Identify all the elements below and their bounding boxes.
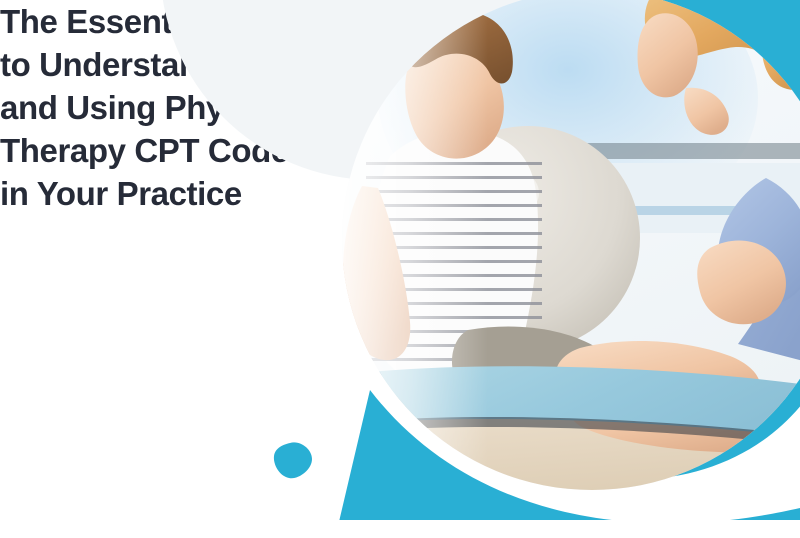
photo-svg [318, 0, 800, 508]
accent-blob-icon [272, 440, 314, 482]
hair-tie [754, 0, 782, 18]
photo-left-fade [318, 0, 488, 508]
hero-banner: The Essential Guide to Understanding and… [0, 0, 800, 538]
blob-svg [272, 440, 314, 482]
blob-shape [274, 442, 312, 478]
hero-photo [318, 0, 800, 508]
